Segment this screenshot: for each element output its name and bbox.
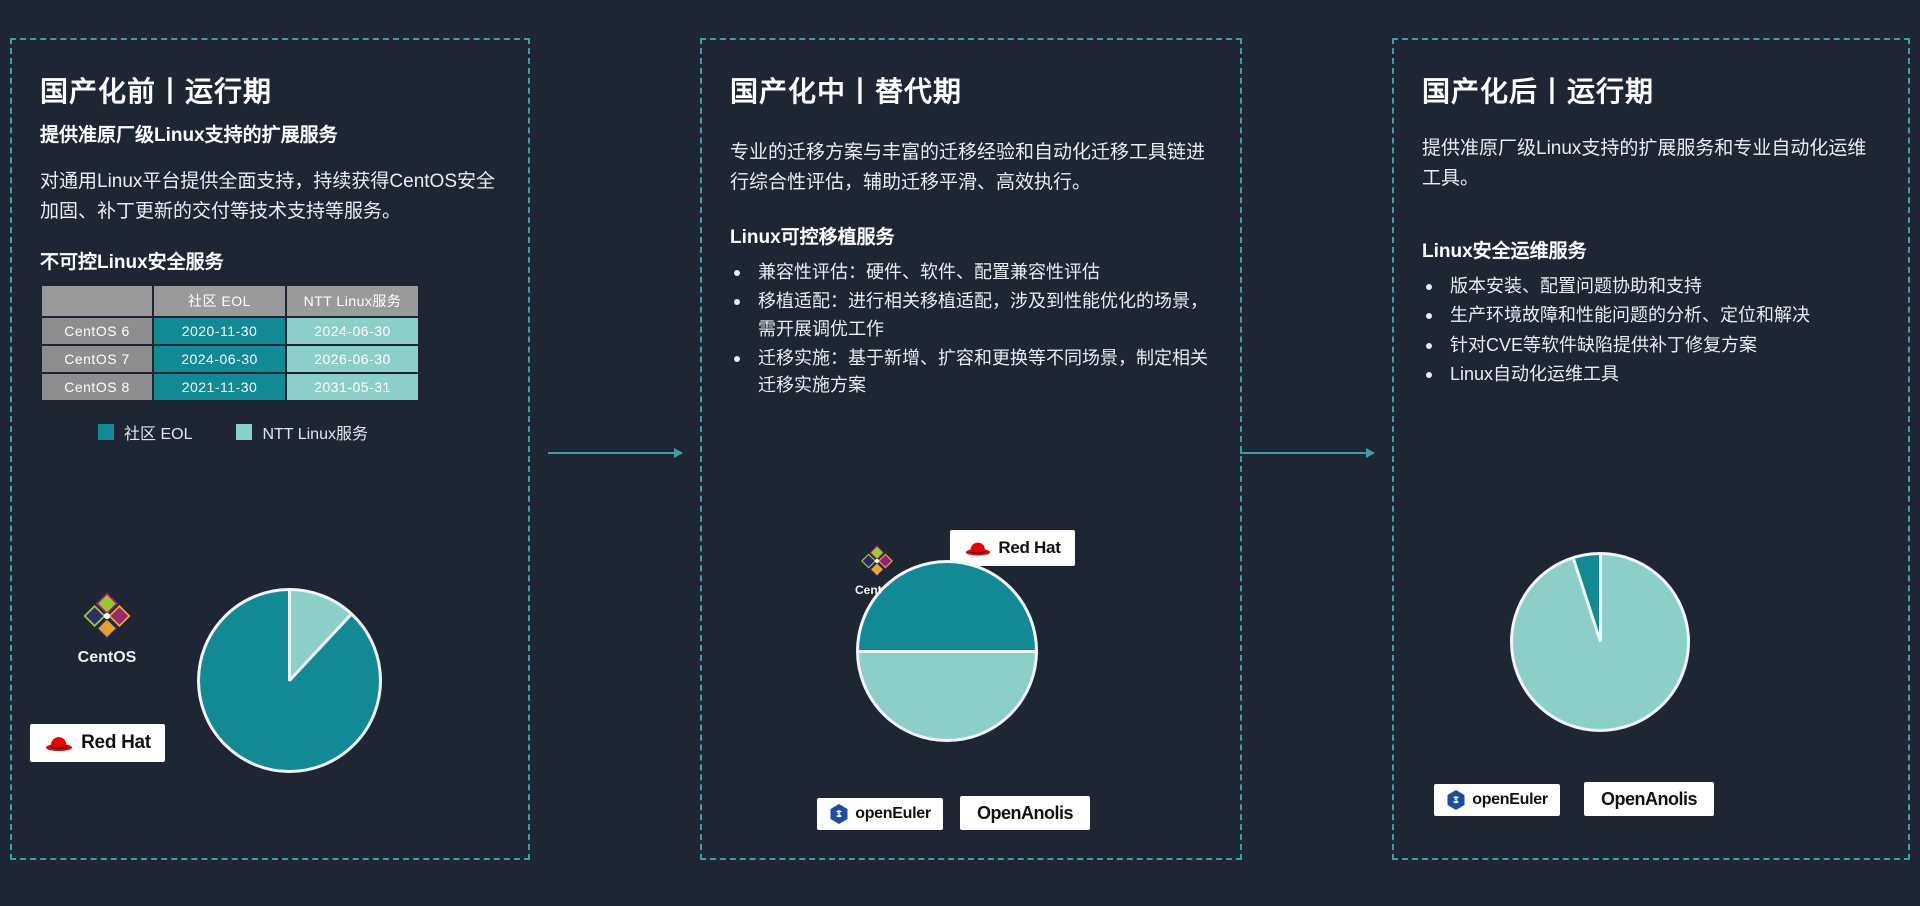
legend-swatch-icon [98,424,114,440]
table-header-blank [42,286,152,316]
centos-mark-icon [856,540,898,582]
redhat-logo: Red Hat [30,724,165,762]
list-item: 针对CVE等软件缺陷提供补丁修复方案 [1422,332,1880,359]
pie-chart-during [856,560,1038,742]
panel-before-localization: 国产化前丨运行期 提供准原厂级Linux支持的扩展服务 对通用Linux平台提供… [10,38,530,860]
eol-table: 社区 EOL NTT Linux服务 CentOS 6 2020-11-30 2… [40,284,420,402]
list-item: Linux自动化运维工具 [1422,361,1880,388]
pie-chart-after [1510,552,1690,732]
centos-logo: CentOS [42,585,172,667]
redhat-fedora-icon [44,732,74,754]
panel-title: 国产化前丨运行期 [40,70,500,110]
table-row: CentOS 7 2024-06-30 2026-06-30 [42,346,418,372]
panel-after-localization: 国产化后丨运行期 提供准原厂级Linux支持的扩展服务和专业自动化运维工具。 L… [1392,38,1910,860]
redhat-logo-label: Red Hat [998,538,1060,558]
service-bullet-list: 兼容性评估：硬件、软件、配置兼容性评估 移植适配：进行相关移植适配，涉及到性能优… [730,259,1212,400]
openeuler-logo: openEuler [817,798,943,830]
panel-body-text: 提供准原厂级Linux支持的扩展服务和专业自动化运维工具。 [1422,134,1880,194]
openeuler-logo: openEuler [1434,784,1560,816]
list-item: 兼容性评估：硬件、软件、配置兼容性评估 [730,259,1212,286]
pie-divider [859,650,1035,653]
table-cell-os-name: CentOS 7 [42,346,152,372]
pie-chart-before [197,588,382,773]
legend-label: NTT Linux服务 [262,420,368,444]
panel-section-heading: 不可控Linux安全服务 [40,247,500,274]
table-header-row: 社区 EOL NTT Linux服务 [42,286,418,316]
table-cell-os-name: CentOS 6 [42,318,152,344]
openeuler-mark-icon [829,803,849,825]
panel-body-text: 对通用Linux平台提供全面支持，持续获得CentOS安全加固、补丁更新的交付等… [40,167,500,227]
table-row: CentOS 6 2020-11-30 2024-06-30 [42,318,418,344]
legend-item-ntt-linux: NTT Linux服务 [236,420,368,444]
list-item: 生产环境故障和性能问题的分析、定位和解决 [1422,302,1880,329]
pie-legend: 社区 EOL NTT Linux服务 [98,420,500,444]
pie-divider [288,614,351,682]
list-item: 迁移实施：基于新增、扩容和更换等不同场景，制定相关迁移实施方案 [730,345,1212,400]
table-cell-os-name: CentOS 8 [42,374,152,400]
table-header-community-eol: 社区 EOL [154,286,285,316]
table-cell-eol-date: 2024-06-30 [154,346,285,372]
pie-divider [288,591,291,681]
centos-logo-label: CentOS [78,649,137,667]
legend-item-community-eol: 社区 EOL [98,420,192,444]
panel-subtitle: 提供准原厂级Linux支持的扩展服务 [40,122,500,151]
openanolis-logo-label: OpenAnolis [977,803,1073,824]
openanolis-logo: OpenAnolis [1584,782,1714,816]
legend-swatch-icon [236,424,252,440]
table-cell-ntt-date: 2031-05-31 [287,374,418,400]
panel-during-localization: 国产化中丨替代期 专业的迁移方案与丰富的迁移经验和自动化迁移工具链进行综合性评估… [700,38,1242,860]
panel-title: 国产化后丨运行期 [1422,70,1880,110]
table-row: CentOS 8 2021-11-30 2031-05-31 [42,374,418,400]
panel-title: 国产化中丨替代期 [730,70,1212,110]
pie-divider [1599,555,1602,642]
arrow-panel2-to-panel3 [1240,452,1374,454]
openeuler-logo-label: openEuler [1472,791,1548,809]
table-cell-ntt-date: 2024-06-30 [287,318,418,344]
service-bullet-list: 版本安装、配置问题协助和支持 生产环境故障和性能问题的分析、定位和解决 针对CV… [1422,273,1880,388]
redhat-logo: Red Hat [950,530,1075,566]
redhat-fedora-icon [964,538,992,558]
table-cell-eol-date: 2020-11-30 [154,318,285,344]
list-item: 移植适配：进行相关移植适配，涉及到性能优化的场景，需开展调优工作 [730,288,1212,343]
panel-section-heading: Linux安全运维服务 [1422,236,1880,263]
table-header-ntt-linux: NTT Linux服务 [287,286,418,316]
panel-body-text: 专业的迁移方案与丰富的迁移经验和自动化迁移工具链进行综合性评估，辅助迁移平滑、高… [730,138,1212,198]
openeuler-mark-icon [1446,789,1466,811]
list-item: 版本安装、配置问题协助和支持 [1422,273,1880,300]
centos-mark-icon [76,585,138,647]
panel-section-heading: Linux可控移植服务 [730,222,1212,249]
table-cell-eol-date: 2021-11-30 [154,374,285,400]
slide-canvas: 国产化前丨运行期 提供准原厂级Linux支持的扩展服务 对通用Linux平台提供… [0,0,1920,906]
openanolis-logo: OpenAnolis [960,796,1090,830]
openeuler-logo-label: openEuler [855,805,931,823]
openanolis-logo-label: OpenAnolis [1601,789,1697,810]
arrow-panel1-to-panel2 [548,452,682,454]
pie-divider [1572,559,1602,643]
legend-label: 社区 EOL [124,420,192,444]
table-cell-ntt-date: 2026-06-30 [287,346,418,372]
redhat-logo-label: Red Hat [81,732,151,754]
